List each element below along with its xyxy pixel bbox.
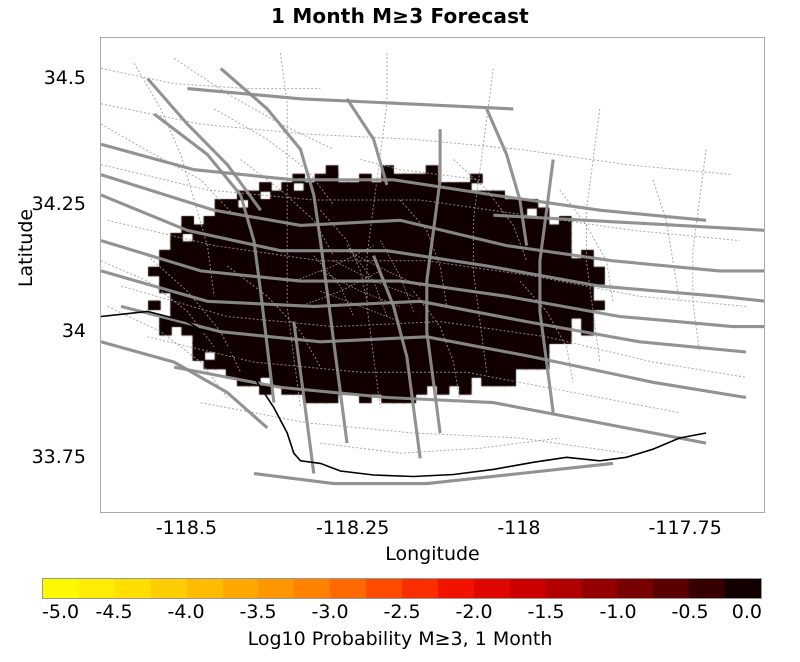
colorbar-tick-label: -3.0 xyxy=(311,601,348,623)
colorbar-tick-label: -3.5 xyxy=(239,601,276,623)
y-tick-label: 33.75 xyxy=(32,446,86,468)
colorbar-title: Log10 Probability M≥3, 1 Month xyxy=(0,628,800,650)
map-line xyxy=(653,180,680,301)
map-line xyxy=(101,104,733,175)
map-line xyxy=(214,109,334,205)
page-title: 1 Month M≥3 Forecast xyxy=(0,4,800,28)
colorbar-tick-labels: -5.0-4.5-4.0-3.5-3.0-2.5-2.0-1.5-1.0-0.5… xyxy=(42,601,762,625)
x-tick-label: -118 xyxy=(497,517,540,539)
map-line xyxy=(294,322,314,474)
map-line xyxy=(493,215,765,230)
colorbar-tick-label: 0.0 xyxy=(732,601,762,623)
map-line xyxy=(154,114,274,403)
map-line xyxy=(101,241,765,327)
colorbar-tick-label: -4.0 xyxy=(167,601,204,623)
figure-root: 1 Month M≥3 Forecast 34.534.253433.75 -1… xyxy=(0,0,800,662)
colorbar-tick-label: -5.0 xyxy=(42,601,79,623)
y-tick-label: 34.5 xyxy=(44,67,86,89)
map-overlay-lines xyxy=(101,38,765,513)
map-line xyxy=(101,261,214,347)
map-line xyxy=(254,463,613,483)
x-tick-label: -118.25 xyxy=(316,517,389,539)
colorbar-tick-label: -4.5 xyxy=(95,601,132,623)
map-plot-area[interactable] xyxy=(100,37,765,513)
y-tick-label: 34 xyxy=(62,320,86,342)
x-axis-title: Longitude xyxy=(100,543,765,565)
map-line xyxy=(374,256,421,459)
map-line xyxy=(148,79,261,211)
colorbar-tick-label: -0.5 xyxy=(671,601,708,623)
map-line xyxy=(101,342,267,428)
colorbar-tick-label: -2.0 xyxy=(455,601,492,623)
colorbar[interactable] xyxy=(42,578,762,599)
colorbar-tick-label: -1.0 xyxy=(599,601,636,623)
map-line xyxy=(101,68,320,88)
x-tick-label: -117.75 xyxy=(649,517,722,539)
map-line xyxy=(347,99,387,185)
colorbar-gradient xyxy=(43,579,761,598)
map-line xyxy=(586,109,599,362)
colorbar-tick-label: -1.5 xyxy=(527,601,564,623)
y-tick-label: 34.25 xyxy=(32,193,86,215)
map-line xyxy=(301,271,381,307)
map-line xyxy=(101,165,739,241)
colorbar-tick-label: -2.5 xyxy=(383,601,420,623)
map-line xyxy=(334,261,414,297)
map-line xyxy=(320,438,559,453)
map-line xyxy=(487,109,527,246)
map-line xyxy=(367,53,387,408)
map-line xyxy=(101,144,706,220)
map-line xyxy=(540,160,553,413)
map-line xyxy=(693,149,706,352)
x-tick-label: -118.5 xyxy=(156,517,217,539)
y-axis-title: Latitude xyxy=(15,148,37,348)
map-line xyxy=(427,129,440,433)
